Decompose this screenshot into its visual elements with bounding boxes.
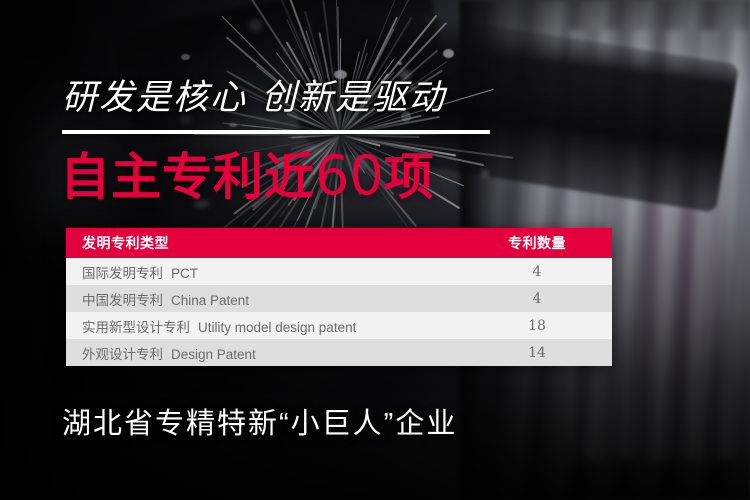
footer-slogan: 湖北省专精特新“小巨人”企业	[62, 400, 457, 442]
table-cell-type: 中国发明专利China Patent	[66, 289, 462, 309]
table-cell-type: 国际发明专利PCT	[66, 262, 462, 282]
table-cell-type: 实用新型设计专利Utility model design patent	[66, 316, 462, 336]
headline-red-suffix: 项	[384, 149, 435, 205]
patent-table: 发明专利类型 专利数量 国际发明专利PCT4中国发明专利China Patent…	[66, 228, 612, 366]
table-cell-count: 4	[462, 291, 612, 307]
patent-type-cn: 中国发明专利	[82, 293, 163, 308]
table-header-row: 发明专利类型 专利数量	[66, 228, 612, 258]
headline-red: 自主专利近60项	[60, 145, 435, 207]
table-cell-count: 14	[462, 345, 612, 361]
table-cell-type: 外观设计专利Design Patent	[66, 343, 462, 363]
headline-top-right: 创新是驱动	[261, 78, 446, 117]
table-header-type: 发明专利类型	[66, 233, 462, 253]
patent-type-en: Design Patent	[163, 347, 256, 362]
headline-divider	[62, 130, 490, 134]
headline-red-number: 60	[315, 144, 384, 207]
table-row: 国际发明专利PCT4	[66, 258, 612, 285]
patent-type-cn: 国际发明专利	[82, 266, 163, 281]
patent-type-en: PCT	[163, 266, 198, 281]
patent-type-cn: 外观设计专利	[82, 347, 163, 362]
patent-type-en: China Patent	[163, 293, 249, 308]
table-cell-count: 4	[462, 264, 612, 280]
table-header-count: 专利数量	[462, 233, 612, 253]
table-cell-count: 18	[462, 318, 612, 334]
table-body: 国际发明专利PCT4中国发明专利China Patent4实用新型设计专利Uti…	[66, 258, 612, 366]
table-row: 中国发明专利China Patent4	[66, 285, 612, 312]
patent-type-en: Utility model design patent	[190, 320, 356, 335]
patent-type-cn: 实用新型设计专利	[82, 320, 190, 335]
table-row: 实用新型设计专利Utility model design patent18	[66, 312, 612, 339]
headline-top-left: 研发是核心	[62, 78, 247, 117]
table-row: 外观设计专利Design Patent14	[66, 339, 612, 366]
headline-red-prefix: 自主专利近	[60, 149, 315, 205]
headline-top: 研发是核心创新是驱动	[62, 80, 446, 115]
